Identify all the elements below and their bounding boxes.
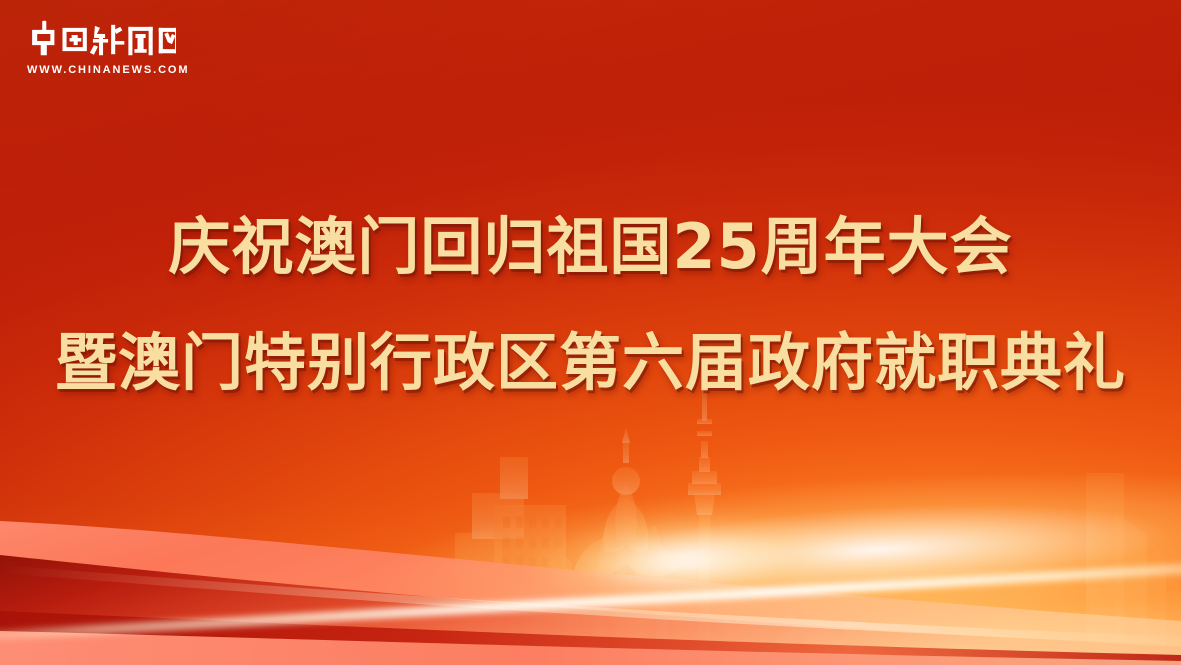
poster-title-line-2: 暨澳门特别行政区第六届政府就职典礼	[0, 322, 1181, 404]
poster-title: 庆祝澳门回归祖国25周年大会 暨澳门特别行政区第六届政府就职典礼	[0, 206, 1181, 404]
ribbon-waves	[0, 415, 1181, 665]
chinanews-logo-icon	[24, 18, 176, 58]
chinanews-logo-url: WWW.CHINANEWS.COM	[27, 64, 194, 76]
chinanews-logo[interactable]: WWW.CHINANEWS.COM	[24, 18, 194, 76]
poster-title-line-1: 庆祝澳门回归祖国25周年大会	[0, 206, 1181, 288]
poster-stage: WWW.CHINANEWS.COM 庆祝澳门回归祖国25周年大会 暨澳门特别行政…	[0, 0, 1181, 665]
